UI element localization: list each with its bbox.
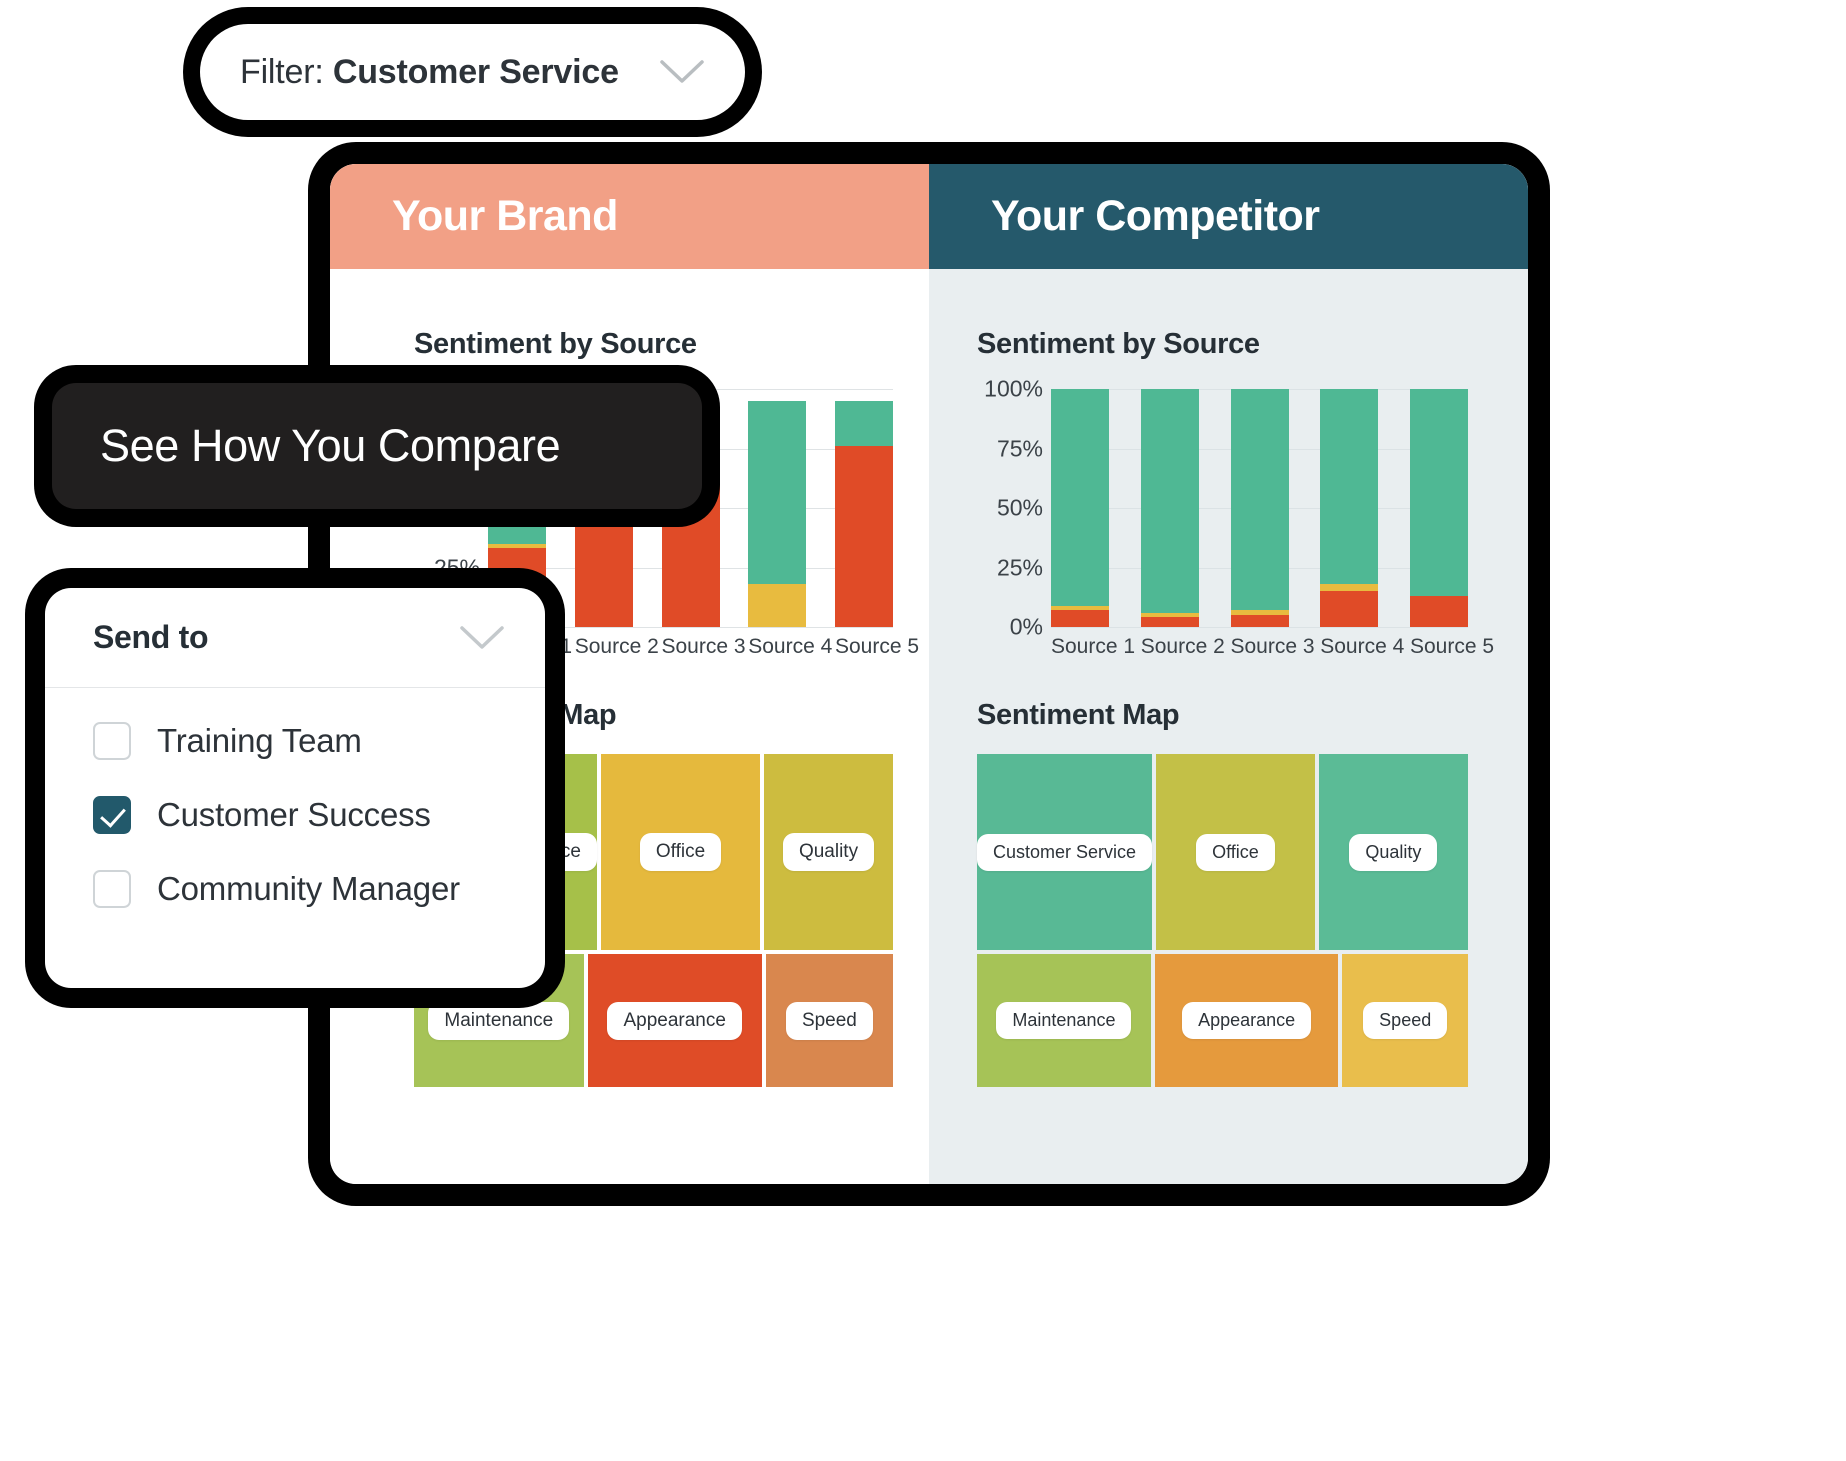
- send-to-option[interactable]: Community Manager: [93, 870, 545, 908]
- chevron-down-icon[interactable]: [459, 625, 505, 651]
- sentiment-map-cell[interactable]: Speed: [766, 954, 893, 1087]
- bar-group-your-competitor: [1051, 389, 1468, 627]
- x-tick: Source 5: [835, 635, 893, 659]
- send-to-option-label: Customer Success: [157, 796, 431, 834]
- panel-header-your-competitor: Your Competitor: [929, 164, 1528, 269]
- bar-segment-positive: [1410, 389, 1468, 596]
- send-to-option[interactable]: Training Team: [93, 722, 545, 760]
- sentiment-map-row: MaintenanceAppearanceSpeed: [977, 954, 1468, 1087]
- send-to-header[interactable]: Send to: [45, 588, 545, 688]
- x-axis-your-competitor: Source 1Source 2Source 3Source 4Source 5: [1051, 635, 1468, 659]
- y-axis-your-competitor: 100% 75% 50% 25% 0%: [977, 389, 1051, 627]
- checkbox-icon[interactable]: [93, 722, 131, 760]
- sentiment-map-row: Customer ServiceOfficeQuality: [977, 754, 1468, 950]
- y-tick: 25%: [434, 554, 480, 581]
- bar-segment-positive: [1051, 389, 1109, 606]
- bar-source-5: [1410, 389, 1468, 627]
- send-to-option-label: Community Manager: [157, 870, 460, 908]
- sentiment-map-cell[interactable]: Quality: [764, 754, 893, 950]
- sentiment-map-cell-label: Maintenance: [996, 1002, 1131, 1039]
- bar-segment-negative: [1141, 617, 1199, 627]
- send-to-panel[interactable]: Send to Training TeamCustomer SuccessCom…: [45, 588, 545, 988]
- sentiment-map-cell[interactable]: Speed: [1342, 954, 1468, 1087]
- bar-segment-positive: [748, 401, 806, 584]
- bar-segment-negative: [1051, 610, 1109, 627]
- sentiment-map-cell-label: Speed: [786, 1002, 873, 1040]
- bar-source-3: [1231, 389, 1289, 627]
- bar-source-2: [1141, 389, 1199, 627]
- sentiment-map-cell-label: Quality: [783, 833, 874, 871]
- sentiment-map-cell-label: Quality: [1349, 834, 1437, 871]
- sentiment-map-cell[interactable]: Office: [601, 754, 760, 950]
- x-tick: Source 5: [1410, 635, 1468, 659]
- chevron-down-icon: [659, 59, 705, 85]
- bar-source-1: [1051, 389, 1109, 627]
- send-to-option-label: Training Team: [157, 722, 362, 760]
- sentiment-map-cell[interactable]: Appearance: [1155, 954, 1339, 1087]
- sentiment-map-cell-label: Office: [1196, 834, 1275, 871]
- sentiment-map-cell[interactable]: Appearance: [588, 954, 762, 1087]
- y-tick: 25%: [997, 554, 1043, 581]
- y-tick: 0%: [1010, 614, 1043, 641]
- y-tick: 50%: [997, 495, 1043, 522]
- x-tick: Source 1: [1051, 635, 1109, 659]
- bar-segment-negative: [1231, 615, 1289, 627]
- x-tick: Source 3: [1231, 635, 1289, 659]
- sentiment-map-cell-label: Office: [640, 833, 721, 871]
- bar-segment-negative: [835, 446, 893, 627]
- y-tick: 75%: [997, 435, 1043, 462]
- panel-header-your-brand: Your Brand: [330, 164, 929, 269]
- filter-label: Filter: Customer Service: [240, 53, 619, 92]
- bar-segment-positive: [1141, 389, 1199, 613]
- x-tick: Source 2: [575, 635, 633, 659]
- bar-source-4: [1320, 389, 1378, 627]
- sentiment-map-cell-label: Appearance: [607, 1002, 741, 1040]
- chart-title-your-brand: Sentiment by Source: [330, 269, 929, 361]
- sentiment-map-cell-label: Speed: [1363, 1002, 1447, 1039]
- x-axis-your-brand: Source 1Source 2Source 3Source 4Source 5: [488, 635, 893, 659]
- x-tick: Source 4: [748, 635, 806, 659]
- sentiment-map-cell-label: Customer Service: [977, 834, 1152, 871]
- bar-segment-positive: [1320, 389, 1378, 584]
- bar-source-4: [748, 389, 806, 627]
- compare-tooltip: See How You Compare: [52, 383, 702, 509]
- send-to-title: Send to: [93, 619, 208, 656]
- sentiment-map-cell[interactable]: Customer Service: [977, 754, 1152, 950]
- sentiment-map-your-competitor: Customer ServiceOfficeQualityMaintenance…: [977, 754, 1468, 1087]
- checkbox-icon[interactable]: [93, 870, 131, 908]
- y-tick: 100%: [984, 376, 1043, 403]
- sentiment-map-cell[interactable]: Quality: [1319, 754, 1468, 950]
- x-tick: Source 3: [662, 635, 720, 659]
- bar-segment-positive: [835, 401, 893, 446]
- x-tick: Source 4: [1320, 635, 1378, 659]
- checkbox-checked-icon[interactable]: [93, 796, 131, 834]
- filter-prefix: Filter:: [240, 53, 324, 91]
- bar-segment-positive: [1231, 389, 1289, 610]
- sentiment-by-source-chart-your-competitor: 100% 75% 50% 25% 0% Source 1Source 2Sour…: [977, 389, 1468, 659]
- bar-segment-neutral: [748, 584, 806, 627]
- screenshot-root: Filter: Customer Service Your Brand Sent…: [0, 0, 1846, 1461]
- sentiment-map-cell[interactable]: Office: [1156, 754, 1315, 950]
- x-tick: Source 2: [1141, 635, 1199, 659]
- filter-value: Customer Service: [333, 53, 619, 91]
- compare-tooltip-text: See How You Compare: [100, 420, 560, 472]
- bar-segment-negative: [1410, 596, 1468, 627]
- bar-source-5: [835, 389, 893, 627]
- chart-title-your-competitor: Sentiment by Source: [929, 269, 1528, 361]
- bar-segment-neutral: [1320, 584, 1378, 591]
- bar-segment-negative: [1320, 591, 1378, 627]
- map-title-your-competitor: Sentiment Map: [929, 659, 1528, 732]
- filter-dropdown[interactable]: Filter: Customer Service: [200, 24, 745, 120]
- panel-your-competitor: Your Competitor Sentiment by Source 100%…: [929, 164, 1528, 1184]
- send-to-option[interactable]: Customer Success: [93, 796, 545, 834]
- sentiment-map-cell[interactable]: Maintenance: [977, 954, 1151, 1087]
- send-to-option-list: Training TeamCustomer SuccessCommunity M…: [45, 688, 545, 908]
- sentiment-map-cell-label: Appearance: [1182, 1002, 1311, 1039]
- sentiment-map-cell-label: Maintenance: [428, 1002, 569, 1040]
